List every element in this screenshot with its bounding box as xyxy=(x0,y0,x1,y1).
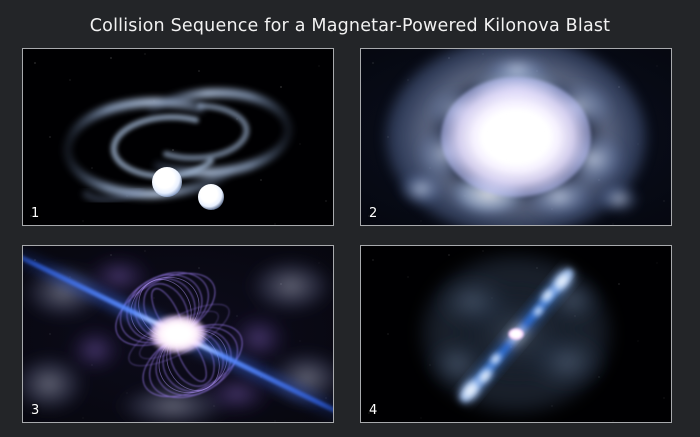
orbital-arms-group xyxy=(48,62,308,212)
neutron-star-secondary xyxy=(198,184,224,210)
panel-label-1: 1 xyxy=(31,206,39,221)
magnetar-core xyxy=(150,315,206,353)
panel-3-scene xyxy=(23,246,333,422)
panel-4-bipolar-jets[interactable]: 4 xyxy=(360,245,672,423)
page-title: Collision Sequence for a Magnetar-Powere… xyxy=(0,16,700,36)
panel-1-scene xyxy=(23,49,333,225)
panel-3-magnetar[interactable]: 3 xyxy=(22,245,334,423)
panel-1-inspiral[interactable]: 1 xyxy=(22,48,334,226)
neutron-star-primary xyxy=(152,167,182,197)
panel-4-scene xyxy=(361,246,671,422)
compact-remnant-core xyxy=(508,328,524,340)
panel-label-4: 4 xyxy=(369,403,377,418)
panel-label-3: 3 xyxy=(31,403,39,418)
blast-inner-core xyxy=(480,109,552,165)
panel-2-scene xyxy=(361,49,671,225)
figure-root: Collision Sequence for a Magnetar-Powere… xyxy=(0,0,700,437)
panel-2-kilonova[interactable]: 2 xyxy=(360,48,672,226)
panel-grid: 1 xyxy=(22,48,678,423)
panel-label-2: 2 xyxy=(369,206,377,221)
